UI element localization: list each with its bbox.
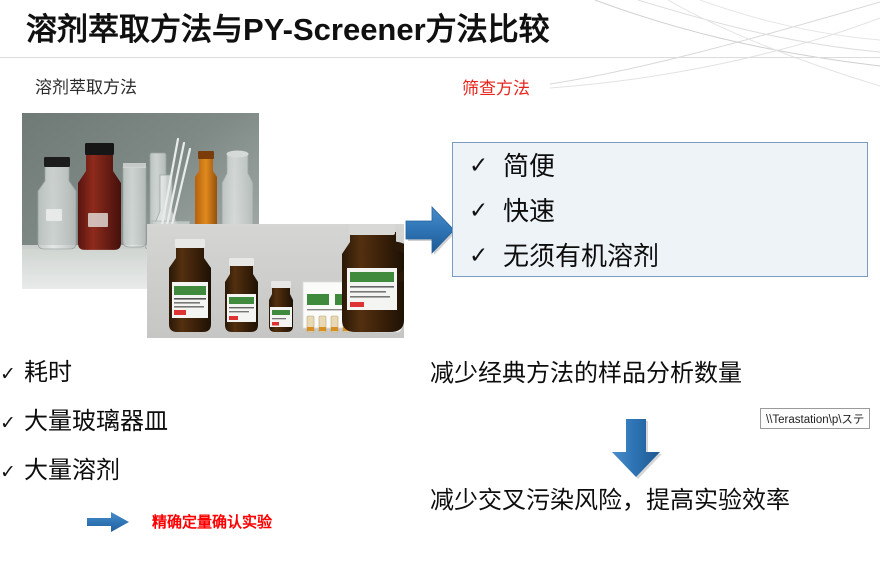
check-icon: ✓	[0, 412, 24, 435]
drawbacks-list: ✓ 耗时 ✓ 大量玻璃器皿 ✓ 大量溶剂	[0, 352, 400, 499]
benefit-label: 无须有机溶剂	[503, 243, 659, 269]
reduce-samples-text: 减少经典方法的样品分析数量	[430, 353, 742, 388]
check-icon: ✓	[469, 244, 503, 267]
confirmation-note-row: 精确定量确认实验	[87, 511, 272, 532]
page-title: 溶剂萃取方法与PY-Screener方法比较	[26, 4, 550, 49]
arrow-right-small-icon	[87, 512, 129, 532]
benefit-label: 快速	[503, 198, 555, 224]
drawback-label: 大量玻璃器皿	[24, 401, 168, 436]
list-item: ✓ 耗时	[0, 352, 400, 387]
arrow-down-icon	[608, 419, 664, 481]
check-icon: ✓	[469, 154, 503, 177]
right-column-label: 筛查方法	[462, 74, 530, 99]
drawback-label: 耗时	[24, 352, 72, 387]
list-item: ✓ 大量溶剂	[0, 450, 400, 485]
title-divider	[0, 57, 880, 58]
benefits-box: ✓ 简便 ✓ 快速 ✓ 无须有机溶剂	[452, 142, 868, 277]
arrow-right-icon	[404, 203, 456, 257]
solvent-bottles-image	[147, 224, 404, 338]
check-icon: ✓	[0, 461, 24, 484]
slide-canvas: 溶剂萃取方法与PY-Screener方法比较 溶剂萃取方法 筛查方法	[0, 0, 880, 569]
drawback-label: 大量溶剂	[24, 450, 120, 485]
decorative-swoosh-lines	[550, 0, 880, 90]
confirmation-note-text: 精确定量确认实验	[152, 511, 272, 532]
check-icon: ✓	[469, 199, 503, 222]
benefit-item: ✓ 快速	[453, 188, 867, 233]
check-icon: ✓	[0, 363, 24, 386]
path-tooltip: \\Terastation\p\ステ	[760, 408, 870, 429]
benefit-label: 简便	[503, 153, 555, 179]
list-item: ✓ 大量玻璃器皿	[0, 401, 400, 436]
benefit-item: ✓ 无须有机溶剂	[453, 233, 867, 278]
reduce-contamination-text: 减少交叉污染风险，提高实验效率	[430, 483, 850, 518]
left-column-label: 溶剂萃取方法	[35, 73, 137, 98]
benefit-item: ✓ 简便	[453, 143, 867, 188]
